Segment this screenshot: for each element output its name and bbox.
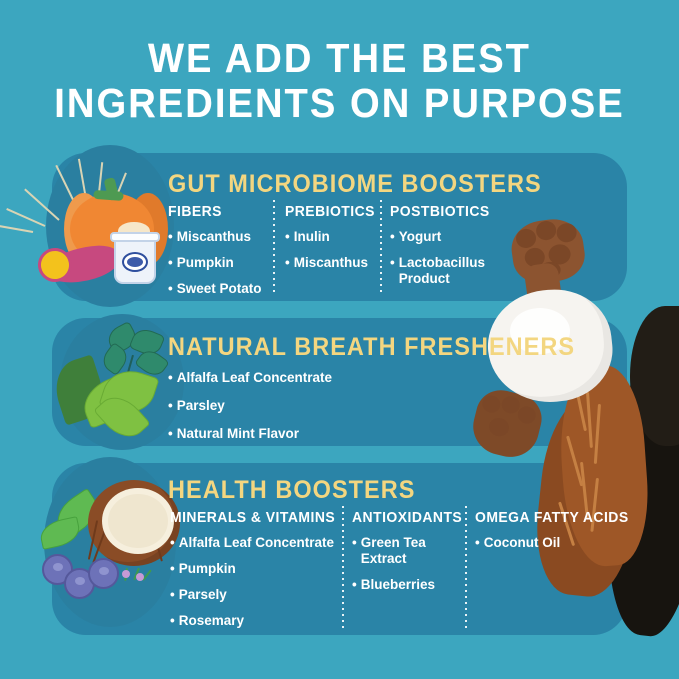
list-breath-fresheners: • Alfalfa Leaf Concentrate • Parsley • N…: [168, 370, 398, 454]
list-item: • Yogurt: [390, 229, 498, 245]
art-backdrop-gut: [46, 145, 174, 307]
art-backdrop-health: [44, 457, 176, 627]
miscanthus-blade: [0, 224, 33, 233]
column-postbiotics: POSTBIOTICS • Yogurt • Lactobacillus Pro…: [390, 203, 498, 297]
column-prebiotics: PREBIOTICS • Inulin • Miscanthus: [285, 203, 373, 281]
list-item-label: Pumpkin: [177, 255, 266, 271]
list-item: • Sweet Potato: [168, 281, 266, 297]
card-heading-gut: GUT MICROBIOME BOOSTERS: [168, 170, 542, 199]
list-item: • Rosemary: [170, 613, 335, 629]
miscanthus-blade: [6, 208, 45, 227]
card-heading-health: HEALTH BOOSTERS: [168, 476, 415, 505]
bullet-dot: •: [168, 398, 173, 414]
list-item: • Lactobacillus Product: [390, 255, 498, 287]
column-antioxidants: ANTIOXIDANTS • Green Tea Extract • Blueb…: [352, 509, 462, 603]
list-item: • Miscanthus: [168, 229, 266, 245]
card-heading-breath: NATURAL BREATH FRESHENERS: [168, 333, 575, 362]
list-item-label: Yogurt: [399, 229, 498, 245]
list-item-label: Miscanthus: [294, 255, 373, 271]
column-divider: [273, 200, 275, 296]
bullet-dot: •: [170, 561, 175, 577]
bullet-dot: •: [352, 577, 357, 593]
bullet-dot: •: [390, 255, 395, 287]
page-title-line-2: INGREDIENTS ON PURPOSE: [24, 81, 655, 126]
bullet-dot: •: [168, 426, 173, 442]
bullet-dot: •: [168, 255, 173, 271]
list-item: • Pumpkin: [168, 255, 266, 271]
list-item: • Miscanthus: [285, 255, 373, 271]
list-item-label: Alfalfa Leaf Concentrate: [179, 535, 335, 551]
list-item-label: Natural Mint Flavor: [177, 426, 398, 442]
list-item-label: Green Tea Extract: [361, 535, 462, 567]
list-item-label: Blueberries: [361, 577, 462, 593]
list-item-label: Alfalfa Leaf Concentrate: [177, 370, 398, 386]
bullet-dot: •: [168, 229, 173, 245]
bullet-dot: •: [475, 535, 480, 551]
bullet-dot: •: [170, 613, 175, 629]
bullet-dot: •: [352, 535, 357, 567]
column-head-omega-fatty-acids: OMEGA FATTY ACIDS: [475, 509, 610, 526]
list-item-label: Lactobacillus Product: [399, 255, 498, 287]
list-item: • Blueberries: [352, 577, 462, 593]
column-head-fibers: FIBERS: [168, 203, 259, 220]
list-item-label: Rosemary: [179, 613, 335, 629]
bullet-dot: •: [285, 255, 290, 271]
bullet-dot: •: [390, 229, 395, 245]
list-item-label: Pumpkin: [179, 561, 335, 577]
list-item-label: Coconut Oil: [484, 535, 620, 551]
bullet-dot: •: [170, 587, 175, 603]
page-title: WE ADD THE BEST INGREDIENTS ON PURPOSE: [0, 36, 679, 126]
bullet-dot: •: [168, 281, 173, 297]
list-item-label: Sweet Potato: [177, 281, 266, 297]
list-item-label: Miscanthus: [177, 229, 266, 245]
column-head-prebiotics: PREBIOTICS: [285, 203, 367, 220]
list-item-label: Parsley: [177, 398, 398, 414]
infographic-page: WE ADD THE BEST INGREDIENTS ON PURPOSE G…: [0, 0, 679, 679]
column-divider: [465, 506, 467, 628]
bullet-dot: •: [168, 370, 173, 386]
art-backdrop-breath: [60, 314, 184, 450]
list-item: • Natural Mint Flavor: [168, 426, 398, 442]
list-item: • Green Tea Extract: [352, 535, 462, 567]
bullet-dot: •: [285, 229, 290, 245]
list-item-label: Parsely: [179, 587, 335, 603]
column-head-postbiotics: POSTBIOTICS: [390, 203, 490, 220]
list-item: • Parsley: [168, 398, 398, 414]
list-item-label: Inulin: [294, 229, 373, 245]
column-divider: [380, 200, 382, 296]
column-head-antioxidants: ANTIOXIDANTS: [352, 509, 454, 526]
list-item: • Parsely: [170, 587, 335, 603]
page-title-line-1: WE ADD THE BEST: [24, 36, 655, 81]
list-item: • Coconut Oil: [475, 535, 620, 551]
column-omega-fatty-acids: OMEGA FATTY ACIDS • Coconut Oil: [475, 509, 620, 561]
column-head-minerals-vitamins: MINERALS & VITAMINS: [170, 509, 323, 526]
column-fibers: FIBERS • Miscanthus • Pumpkin • Sweet Po…: [168, 203, 266, 307]
dog-fur-black: [630, 306, 679, 446]
column-minerals-vitamins: MINERALS & VITAMINS • Alfalfa Leaf Conce…: [170, 509, 335, 639]
column-divider: [342, 506, 344, 628]
list-item: • Alfalfa Leaf Concentrate: [168, 370, 398, 386]
list-item: • Inulin: [285, 229, 373, 245]
bullet-dot: •: [170, 535, 175, 551]
list-item: • Alfalfa Leaf Concentrate: [170, 535, 335, 551]
list-item: • Pumpkin: [170, 561, 335, 577]
